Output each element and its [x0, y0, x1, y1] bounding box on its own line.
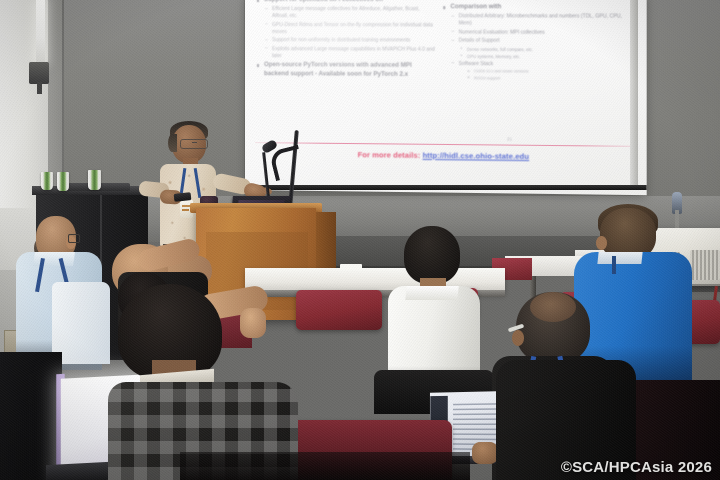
attendee-blue-polo-lanyard: [612, 256, 616, 274]
glasses-bridge: [192, 142, 197, 143]
wall-fixture-arm: [37, 82, 42, 94]
attendee-blue-polo-ear: [596, 236, 607, 250]
foreground-dark-area: [180, 452, 470, 480]
projection-screen-right-edge: [630, 0, 638, 190]
projector-vent: [690, 250, 720, 280]
attendee-blue-polo-collar: [597, 252, 642, 264]
wall-fixture: [29, 62, 49, 84]
watermark: ©SCA/HPCAsia 2026: [561, 459, 712, 476]
projection-screen-surface: Exploits ... PyTorch 2.0.x and earlier v…: [245, 0, 647, 195]
projection-screen-weight-bar: [245, 185, 647, 190]
light-strip-icon: [36, 0, 45, 62]
attendee-stretching-hand: [240, 308, 266, 338]
glasses-icon: [68, 234, 80, 243]
attendee-hand: [472, 442, 498, 464]
badge-text-line: [182, 209, 189, 211]
attendee-center-collar: [405, 286, 458, 300]
paper-cup: [88, 170, 101, 190]
foreground-dark-area: [0, 352, 62, 480]
glasses-icon: [180, 139, 208, 149]
paper-on-table: [340, 264, 362, 270]
chair: [296, 290, 382, 330]
presenter-hair-side: [168, 134, 177, 152]
screen-glare: [245, 0, 647, 195]
photograph: Exploits ... PyTorch 2.0.x and earlier v…: [0, 0, 720, 480]
paper-cup: [57, 172, 69, 191]
attendee-masked-ear: [512, 330, 524, 346]
attendee-masked-scalp: [530, 292, 576, 322]
attendee-center-white-shirt-head: [404, 226, 460, 284]
projection-screen: Exploits ... PyTorch 2.0.x and earlier v…: [245, 0, 647, 195]
paper-cup: [41, 172, 53, 190]
